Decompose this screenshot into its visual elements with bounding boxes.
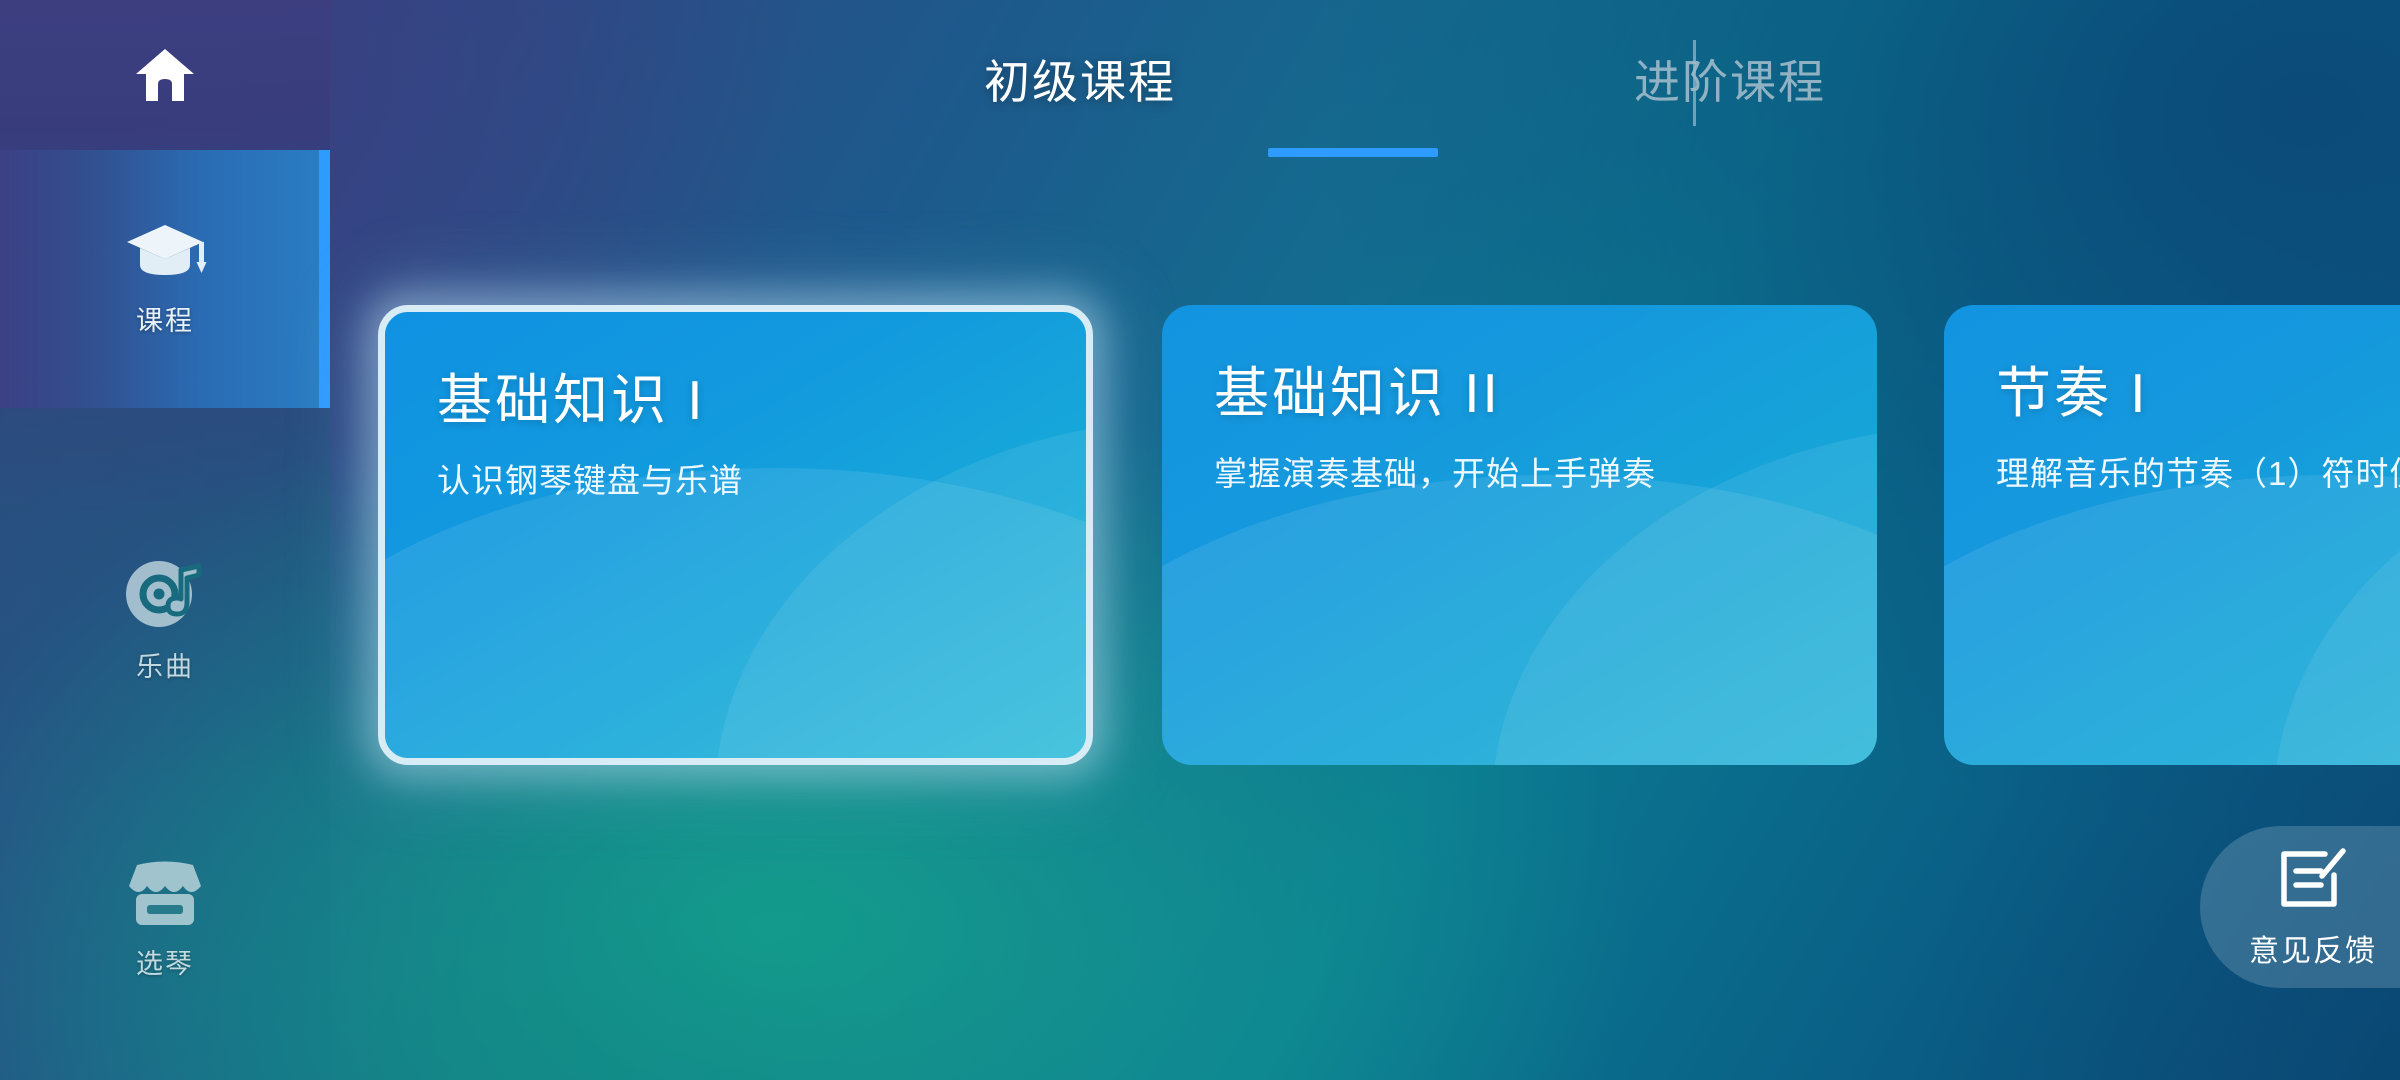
card-body: 基础知识 I 认识钢琴键盘与乐谱 xyxy=(385,312,1086,504)
card-subtitle: 理解音乐的节奏（1）符时值关系 xyxy=(1996,450,2400,498)
card-subtitle: 掌握演奏基础，开始上手弹奏 xyxy=(1214,450,1814,498)
card-body: 节奏 I 理解音乐的节奏（1）符时值关系 xyxy=(1944,305,2400,497)
feedback-label: 意见反馈 xyxy=(2249,926,2377,970)
edit-note-icon xyxy=(2277,845,2349,916)
card-subtitle: 认识钢琴键盘与乐谱 xyxy=(437,457,1037,505)
course-card-list: 基础知识 I 认识钢琴键盘与乐谱 基础知识 II 掌握演奏基础，开始上手弹奏 节… xyxy=(0,0,2400,1080)
card-wave-decoration xyxy=(378,468,1093,765)
card-title: 节奏 I xyxy=(1996,363,2400,424)
card-body: 基础知识 II 掌握演奏基础，开始上手弹奏 xyxy=(1162,305,1877,497)
course-card[interactable]: 节奏 I 理解音乐的节奏（1）符时值关系 xyxy=(1944,305,2400,765)
card-wave-decoration xyxy=(1944,475,2400,765)
card-title: 基础知识 I xyxy=(437,370,1086,431)
course-card[interactable]: 基础知识 I 认识钢琴键盘与乐谱 xyxy=(378,305,1093,765)
feedback-button[interactable]: 意见反馈 xyxy=(2200,826,2400,988)
card-title: 基础知识 II xyxy=(1214,363,1877,424)
course-card[interactable]: 基础知识 II 掌握演奏基础，开始上手弹奏 xyxy=(1162,305,1877,765)
app-screen: 课程 乐曲 xyxy=(0,0,2400,1080)
card-wave-decoration xyxy=(1162,475,1877,765)
